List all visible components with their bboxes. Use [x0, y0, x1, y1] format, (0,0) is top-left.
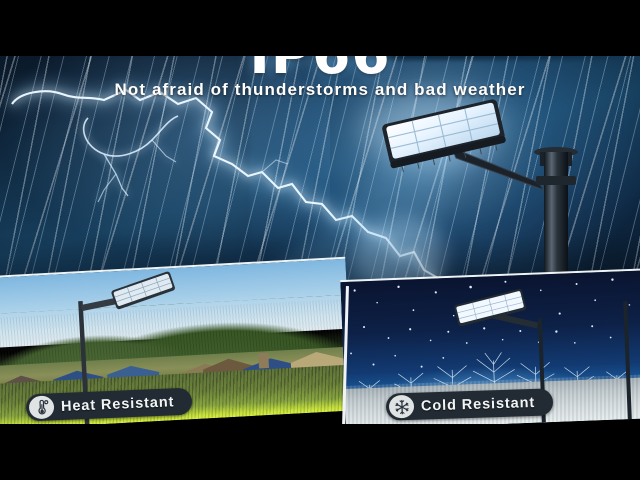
lamp-arm	[452, 148, 544, 190]
badge-cold-label: Cold Resistant	[421, 394, 536, 414]
letterbox-bar-top	[0, 0, 640, 56]
badge-heat-label: Heat Resistant	[61, 394, 175, 415]
snowflake-icon	[389, 395, 415, 419]
letterbox-bar-bottom	[0, 424, 640, 480]
pole-bracket	[536, 176, 576, 185]
tagline-text: Not afraid of thunderstorms and bad weat…	[0, 80, 640, 100]
badge-cold-resistant: Cold Resistant	[386, 388, 554, 420]
screenshot-canvas: Heat Resistant Cold Resistant IP66 Not a…	[0, 0, 640, 480]
thermometer-icon	[29, 395, 55, 419]
